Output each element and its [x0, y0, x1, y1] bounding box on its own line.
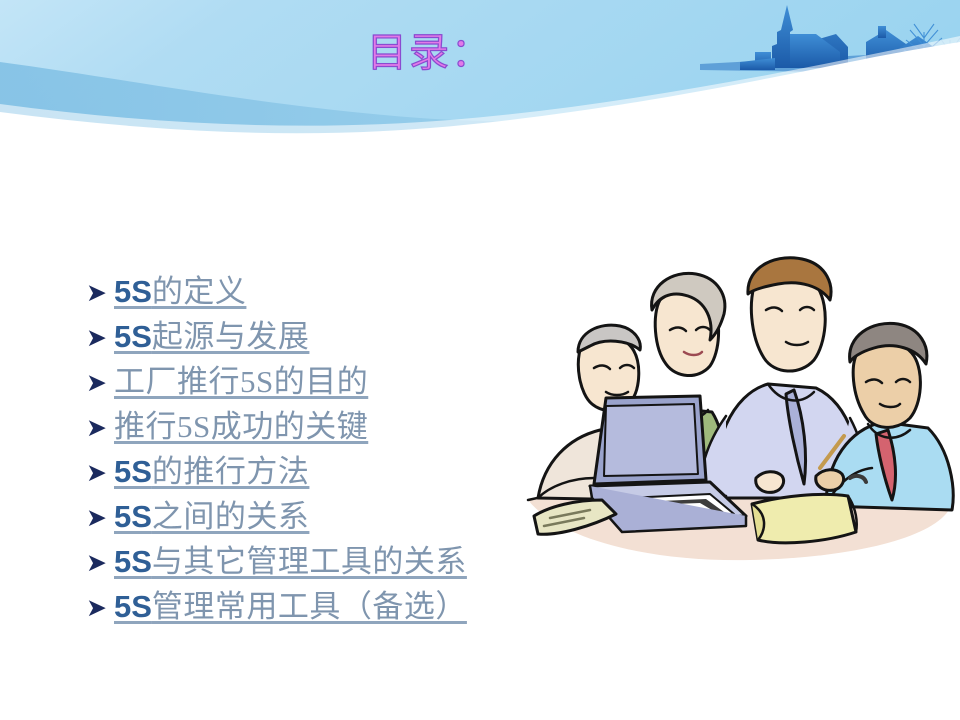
list-item[interactable]: ➤ 5S与其它管理工具的关系 — [86, 545, 606, 590]
toc-label: 的推行方法 — [152, 454, 310, 489]
list-item[interactable]: ➤ 推行5S成功的关键 — [86, 410, 606, 455]
arrow-bullet-icon: ➤ — [86, 505, 114, 530]
arrow-bullet-icon: ➤ — [86, 550, 114, 575]
list-item[interactable]: ➤ 5S的推行方法 — [86, 455, 606, 500]
toc-link-4[interactable]: 推行5S成功的关键 — [114, 410, 368, 445]
toc-link-5[interactable]: 5S的推行方法 — [114, 455, 309, 490]
toc-prefix: 5S — [114, 544, 152, 579]
toc-link-7[interactable]: 5S与其它管理工具的关系 — [114, 545, 467, 580]
toc-link-3[interactable]: 工厂推行5S的目的 — [114, 365, 368, 400]
toc-prefix: 5S — [114, 454, 152, 489]
arrow-bullet-icon: ➤ — [86, 415, 114, 440]
arrow-bullet-icon: ➤ — [86, 595, 114, 620]
arrow-bullet-icon: ➤ — [86, 370, 114, 395]
list-item[interactable]: ➤ 5S起源与发展 — [86, 320, 606, 365]
arrow-bullet-icon: ➤ — [86, 325, 114, 350]
toc-label: 工厂推行5S的目的 — [114, 364, 368, 399]
toc-label: 起源与发展 — [152, 319, 310, 354]
toc-prefix: 5S — [114, 274, 152, 309]
arrow-bullet-icon: ➤ — [86, 460, 114, 485]
toc-link-1[interactable]: 5S的定义 — [114, 275, 246, 310]
toc-prefix: 5S — [114, 499, 152, 534]
page-title: 目录： — [0, 32, 860, 74]
toc-label: 与其它管理工具的关系 — [152, 544, 467, 579]
toc-label: 的定义 — [152, 274, 247, 309]
list-item[interactable]: ➤ 5S之间的关系 — [86, 500, 606, 545]
toc-link-8[interactable]: 5S管理常用工具（备选） — [114, 590, 467, 625]
toc-prefix: 5S — [114, 319, 152, 354]
list-item[interactable]: ➤ 5S的定义 — [86, 275, 606, 320]
list-item[interactable]: ➤ 5S管理常用工具（备选） — [86, 590, 606, 635]
yellow-folder — [752, 494, 856, 542]
toc-link-2[interactable]: 5S起源与发展 — [114, 320, 309, 355]
slide-root: 目录： ➤ 5S的定义 ➤ 5S起源与发展 ➤ 工厂推行5S的目的 ➤ 推行5S… — [0, 0, 960, 720]
toc-prefix: 5S — [114, 589, 152, 624]
toc-label: 管理常用工具（备选） — [152, 589, 467, 624]
toc-label: 推行5S成功的关键 — [114, 409, 368, 444]
person-4-hand — [816, 470, 844, 491]
list-item[interactable]: ➤ 工厂推行5S的目的 — [86, 365, 606, 410]
arrow-bullet-icon: ➤ — [86, 280, 114, 305]
toc-link-6[interactable]: 5S之间的关系 — [114, 500, 309, 535]
table-of-contents: ➤ 5S的定义 ➤ 5S起源与发展 ➤ 工厂推行5S的目的 ➤ 推行5S成功的关… — [86, 275, 606, 635]
person-3-hand — [756, 472, 784, 493]
person-4-head — [853, 341, 920, 427]
toc-label: 之间的关系 — [152, 499, 310, 534]
